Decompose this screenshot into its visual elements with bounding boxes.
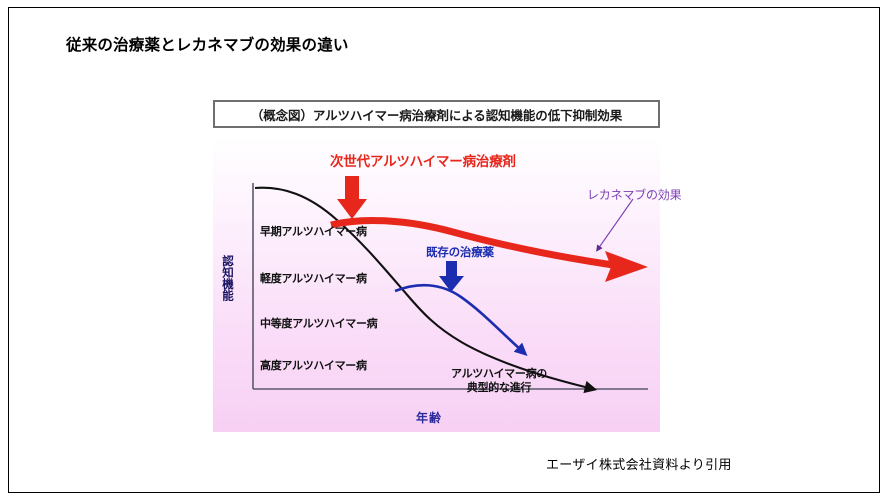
footer-credit: エーザイ株式会社資料より引用 — [546, 454, 732, 473]
figure-caption-text: （概念図）アルツハイマー病治療剤による認知機能の低下抑制効果 — [251, 105, 622, 124]
x-axis-title: 年齢 — [416, 409, 442, 426]
slide-canvas: 従来の治療薬とレカネマブの効果の違い （概念図）アルツハイマー病治療剤による認知… — [0, 0, 890, 502]
chart-panel: 認知機能 早期アルツハイマー病 軽度アルツハイマー病 中等度アルツハイマー病 高… — [213, 137, 660, 432]
series-typical-progression — [255, 188, 589, 388]
annotation-lecanemab-effect: レカネマブの効果 — [587, 186, 681, 203]
lecanemab-callout-leader-line — [598, 199, 633, 249]
figure-caption-box: （概念図）アルツハイマー病治療剤による認知機能の低下抑制効果 — [213, 100, 660, 128]
y-axis-title: 認知機能 — [219, 255, 235, 301]
page-title: 従来の治療薬とレカネマブの効果の違い — [66, 33, 349, 55]
next-gen-drug-down-arrow-icon — [337, 176, 367, 219]
series-next-gen-drug — [331, 221, 613, 265]
chart-plot-area — [213, 137, 660, 432]
series-next-gen-drug-arrowhead — [605, 251, 648, 282]
figure-container: （概念図）アルツハイマー病治療剤による認知機能の低下抑制効果 — [213, 100, 660, 432]
